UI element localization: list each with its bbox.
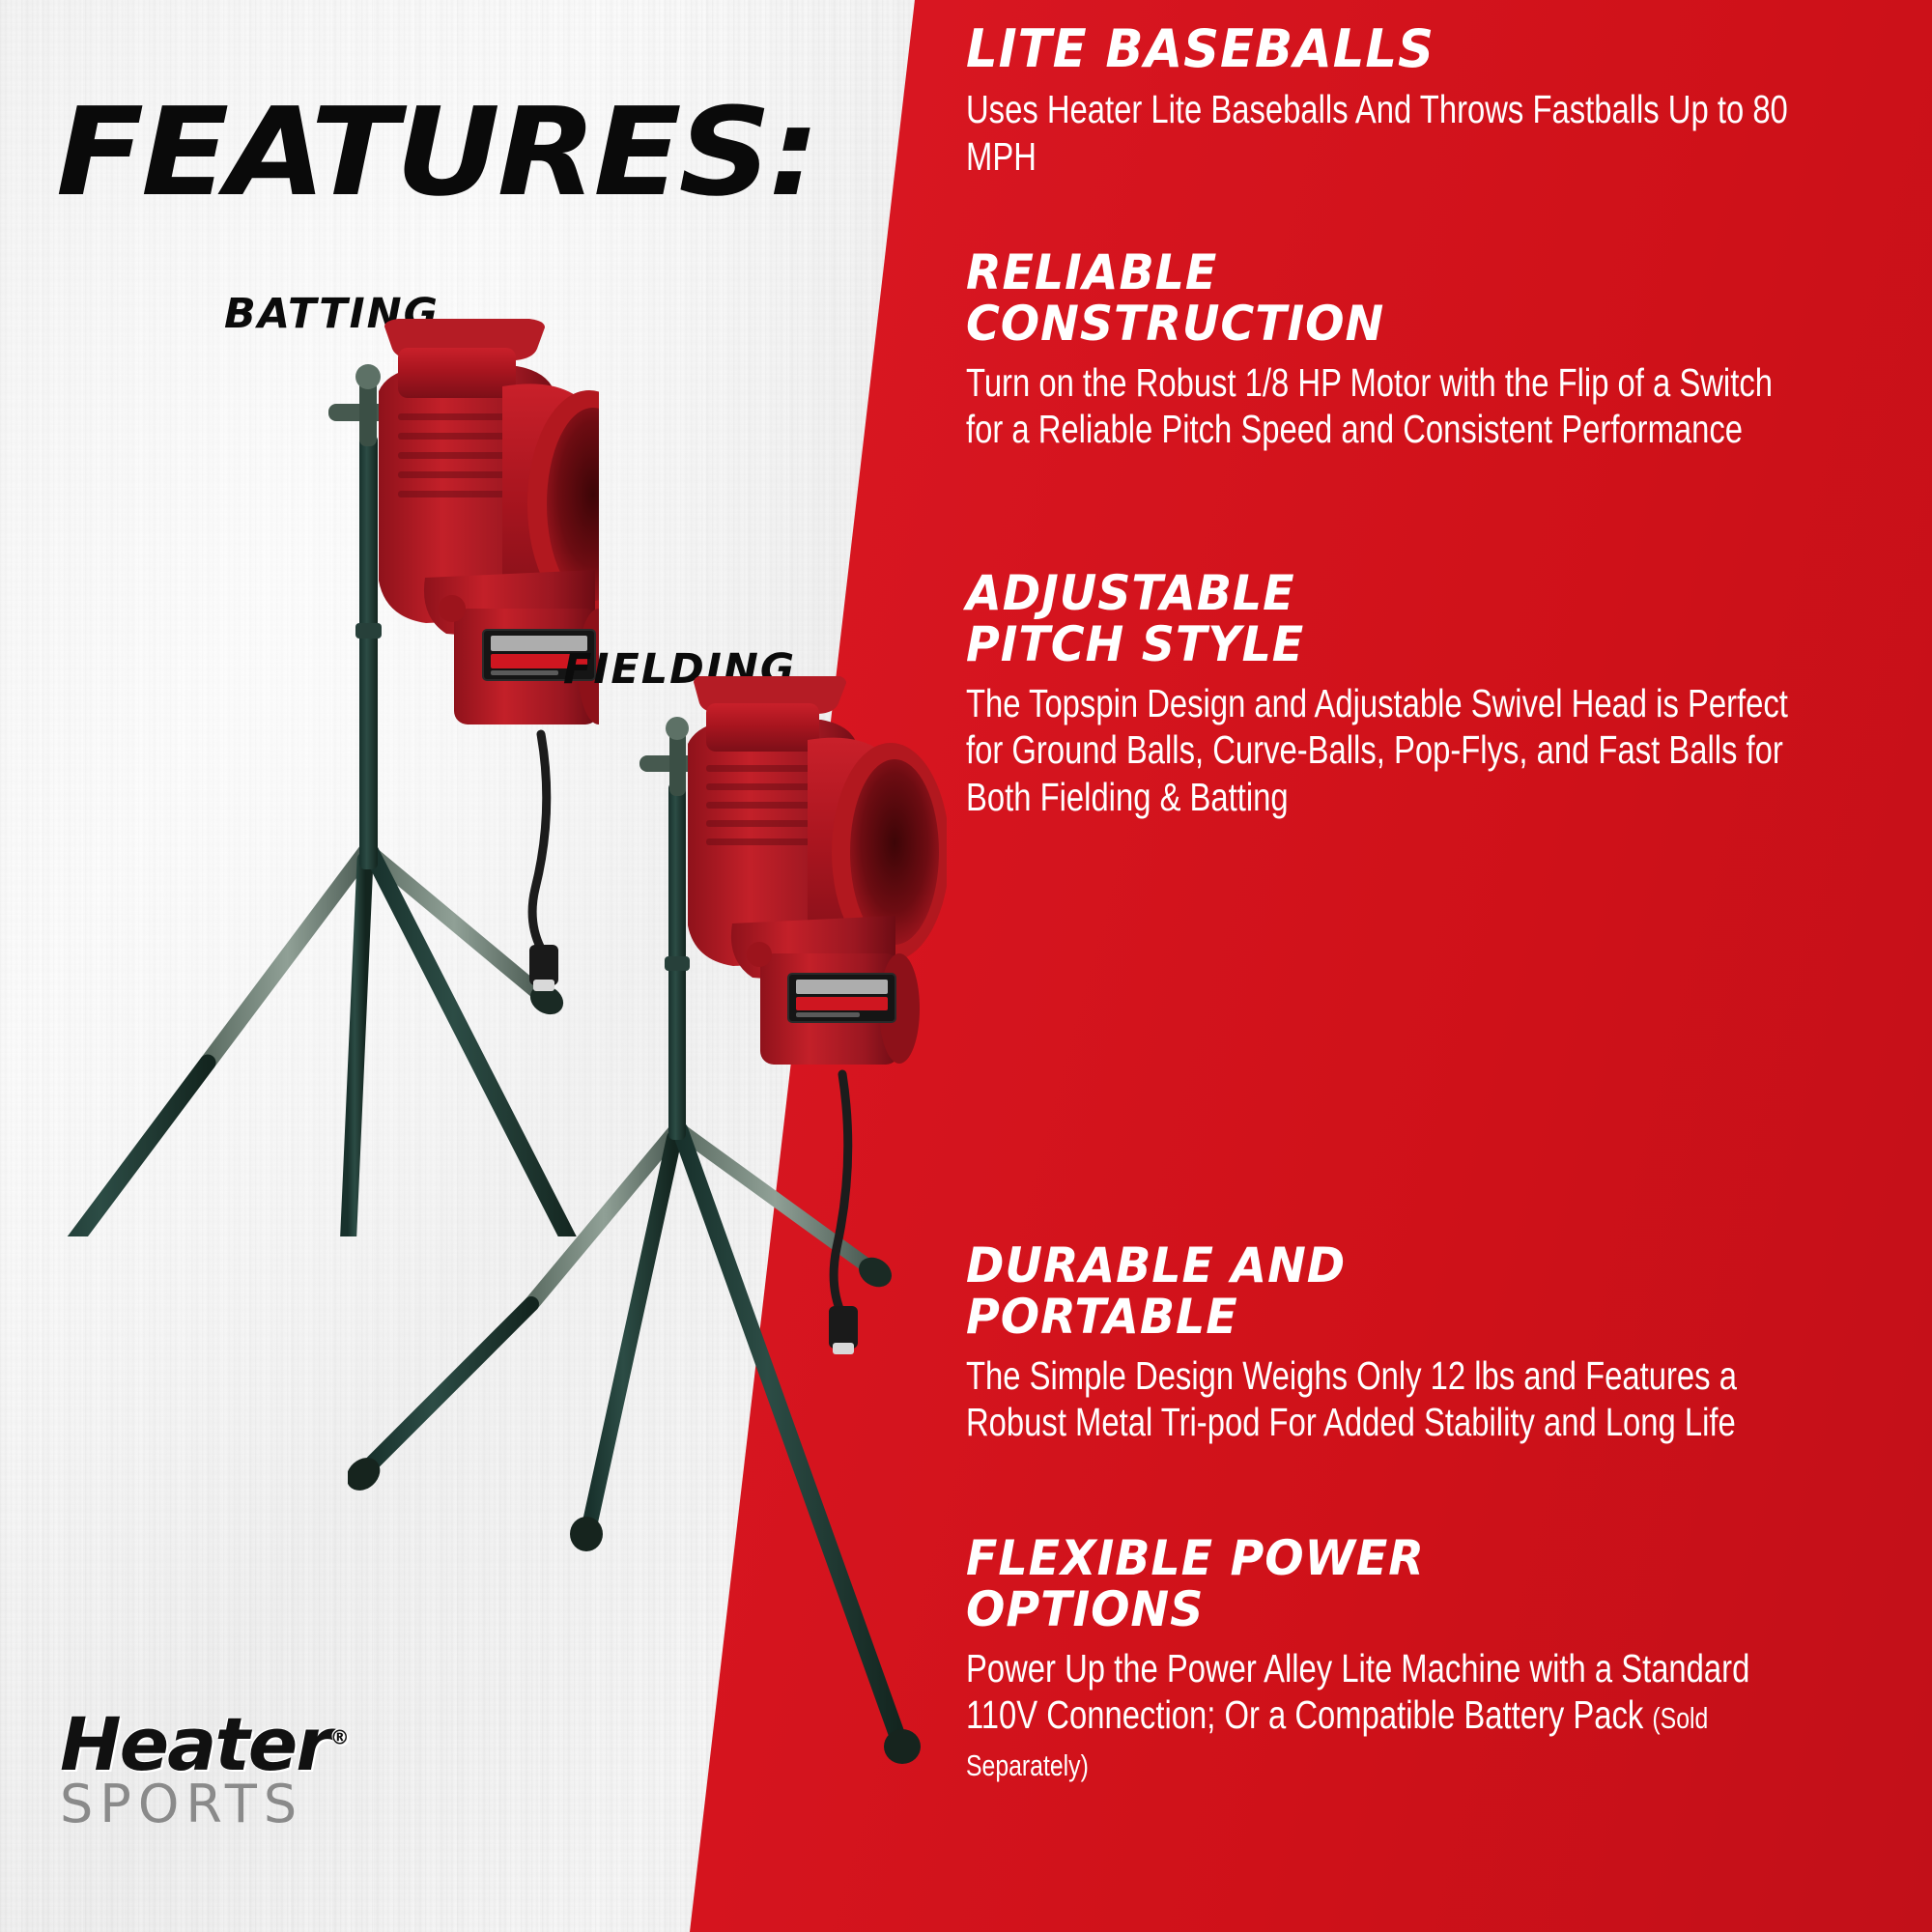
feature-item: Adjustable Pitch Style The Topspin Desig… [966, 568, 1816, 820]
logo-wordmark: Heater® [60, 1710, 427, 1779]
feature-heading: Adjustable Pitch Style [966, 568, 1774, 670]
feature-heading: LITE BASEBALLS [966, 21, 1774, 76]
registered-trademark-icon: ® [330, 1726, 350, 1749]
feature-item: Reliable Construction Turn on the Robust… [966, 247, 1816, 453]
feature-item: Flexible Power Options Power Up the Powe… [966, 1533, 1816, 1785]
feature-item: Durable And Portable The Simple Design W… [966, 1240, 1816, 1446]
feature-body: Power Up the Power Alley Lite Machine wi… [966, 1645, 1808, 1785]
page-title: FEATURES: [56, 92, 817, 213]
feature-body: The Topspin Design and Adjustable Swivel… [966, 680, 1808, 820]
feature-list: LITE BASEBALLS Uses Heater Lite Baseball… [966, 0, 1835, 1932]
feature-body: Uses Heater Lite Baseballs And Throws Fa… [966, 86, 1808, 180]
feature-body: Turn on the Robust 1/8 HP Motor with the… [966, 359, 1808, 453]
feature-heading: Flexible Power Options [966, 1533, 1774, 1635]
feature-heading: Reliable Construction [966, 247, 1774, 350]
pitching-machine-fielding-icon [348, 676, 947, 1768]
feature-body: The Simple Design Weighs Only 12 lbs and… [966, 1352, 1808, 1446]
logo-subtitle: SPORTS [60, 1774, 427, 1834]
infographic-page: FEATURES: BATTING [0, 0, 1932, 1932]
feature-body-main: Power Up the Power Alley Lite Machine wi… [966, 1646, 1749, 1737]
feature-item: LITE BASEBALLS Uses Heater Lite Baseball… [966, 21, 1816, 180]
brand-logo: Heater® SPORTS [60, 1710, 427, 1855]
feature-heading: Durable And Portable [966, 1240, 1774, 1343]
